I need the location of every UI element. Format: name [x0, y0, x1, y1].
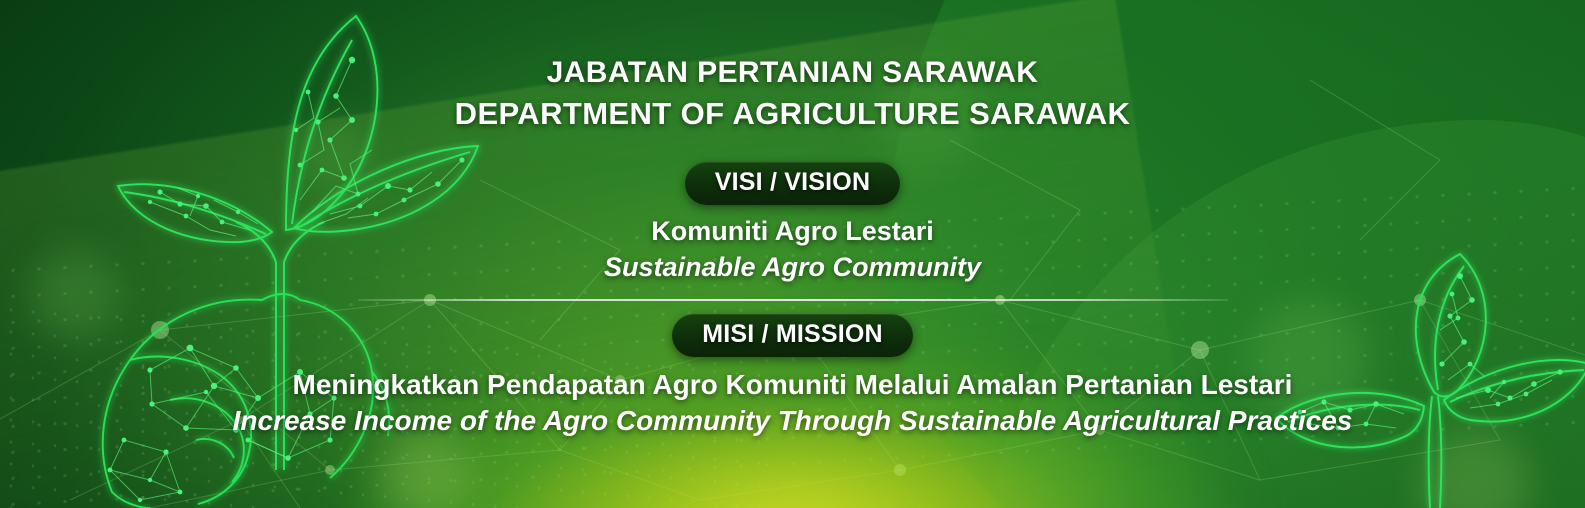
vision-mission-banner: JABATAN PERTANIAN SARAWAK DEPARTMENT OF …	[0, 0, 1585, 508]
mission-badge: MISI / MISSION	[672, 314, 913, 357]
vision-statement-malay: Komuniti Agro Lestari	[604, 216, 981, 247]
banner-content: JABATAN PERTANIAN SARAWAK DEPARTMENT OF …	[0, 0, 1585, 508]
mission-statement-malay: Meningkatkan Pendapatan Agro Komuniti Me…	[233, 369, 1353, 401]
vision-badge: VISI / VISION	[685, 162, 900, 205]
section-divider	[358, 299, 1228, 301]
mission-section: MISI / MISSION Meningkatkan Pendapatan A…	[233, 314, 1353, 437]
title-malay: JABATAN PERTANIAN SARAWAK	[455, 52, 1131, 93]
mission-statement-english: Increase Income of the Agro Community Th…	[233, 405, 1353, 437]
organisation-title: JABATAN PERTANIAN SARAWAK DEPARTMENT OF …	[455, 52, 1131, 136]
vision-statement-english: Sustainable Agro Community	[604, 252, 981, 283]
title-english: DEPARTMENT OF AGRICULTURE SARAWAK	[455, 93, 1131, 136]
vision-section: VISI / VISION Komuniti Agro Lestari Sust…	[604, 162, 981, 283]
